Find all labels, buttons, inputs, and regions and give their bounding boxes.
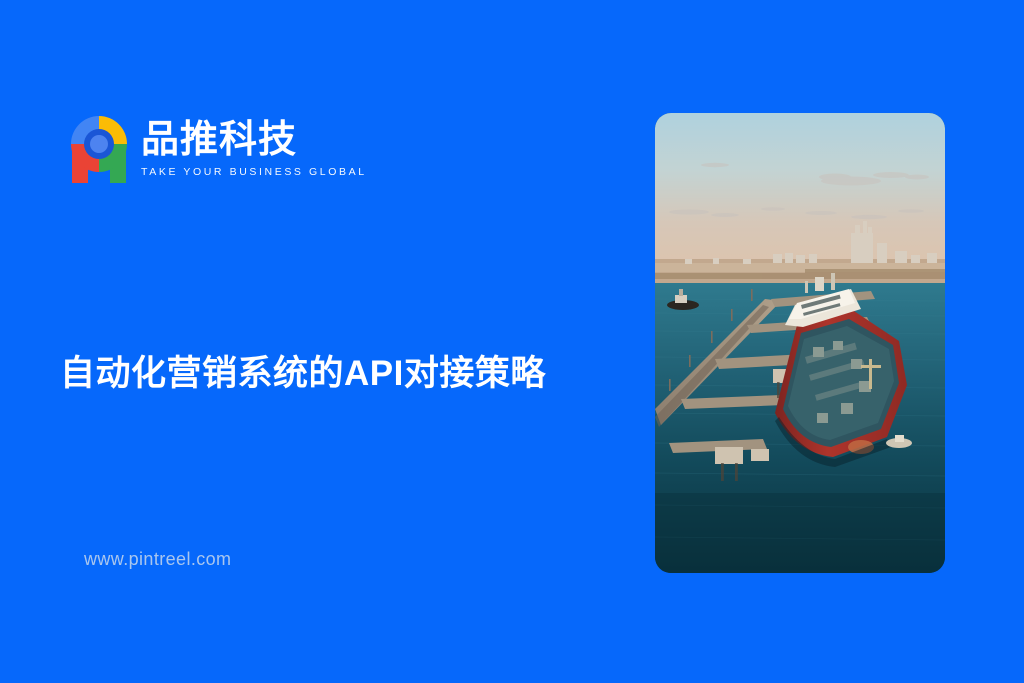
brand-tagline: TAKE YOUR BUSINESS GLOBAL: [141, 167, 367, 178]
left-content-column: 品推科技 TAKE YOUR BUSINESS GLOBAL 自动化营销系统的A…: [0, 0, 620, 683]
brand-logo-lockup[interactable]: 品推科技 TAKE YOUR BUSINESS GLOBAL: [68, 113, 367, 183]
site-url[interactable]: www.pintreel.com: [84, 549, 231, 570]
pintreel-ring-logo-icon: [68, 113, 130, 183]
port-oil-tanker-photo: [655, 113, 945, 573]
brand-text-block: 品推科技 TAKE YOUR BUSINESS GLOBAL: [141, 119, 367, 177]
brand-name: 品推科技: [141, 121, 367, 161]
page-title: 自动化营销系统的API对接策略: [60, 352, 600, 396]
